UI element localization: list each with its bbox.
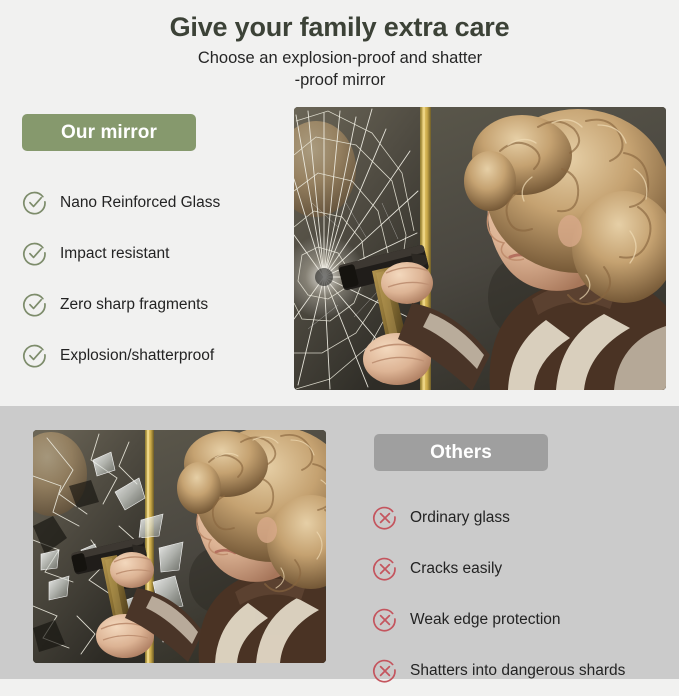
list-item: Cracks easily — [372, 543, 672, 594]
comparison-section-others: Others Ordinary glass Cracks easily Weak… — [0, 406, 679, 679]
photo-reinforced-mirror-image — [294, 107, 666, 390]
list-item: Explosion/shatterproof — [22, 330, 282, 381]
feature-list-ours: Nano Reinforced Glass Impact resistant Z… — [22, 177, 282, 381]
x-circle-icon — [372, 556, 398, 582]
list-item: Shatters into dangerous shards — [372, 645, 672, 696]
photo-reinforced-mirror — [294, 107, 666, 390]
x-circle-icon — [372, 658, 398, 684]
x-circle-icon — [372, 607, 398, 633]
check-circle-icon — [22, 343, 48, 369]
list-item-label: Shatters into dangerous shards — [410, 662, 625, 680]
list-item: Ordinary glass — [372, 492, 672, 543]
list-item-label: Ordinary glass — [410, 509, 510, 527]
list-item: Nano Reinforced Glass — [22, 177, 282, 228]
check-circle-icon — [22, 190, 48, 216]
list-item-label: Nano Reinforced Glass — [60, 194, 220, 212]
list-item: Weak edge protection — [372, 594, 672, 645]
list-item: Zero sharp fragments — [22, 279, 282, 330]
badge-others-label: Others — [430, 442, 492, 464]
list-item-label: Weak edge protection — [410, 611, 561, 629]
comparison-section-ours: Give your family extra care Choose an ex… — [0, 0, 679, 406]
x-circle-icon — [372, 505, 398, 531]
badge-our-mirror-label: Our mirror — [61, 122, 157, 144]
check-circle-icon — [22, 241, 48, 267]
list-item-label: Explosion/shatterproof — [60, 347, 214, 365]
list-item: Impact resistant — [22, 228, 282, 279]
list-item-label: Impact resistant — [60, 245, 169, 263]
photo-shattered-mirror — [33, 430, 326, 663]
list-item-label: Zero sharp fragments — [60, 296, 208, 314]
feature-list-others: Ordinary glass Cracks easily Weak edge p… — [372, 492, 672, 696]
page-subtitle: Choose an explosion-proof and shatter -p… — [140, 47, 540, 91]
page-title: Give your family extra care — [0, 12, 679, 43]
badge-others: Others — [374, 434, 548, 471]
photo-shattered-mirror-image — [33, 430, 326, 663]
badge-our-mirror: Our mirror — [22, 114, 196, 151]
check-circle-icon — [22, 292, 48, 318]
list-item-label: Cracks easily — [410, 560, 502, 578]
